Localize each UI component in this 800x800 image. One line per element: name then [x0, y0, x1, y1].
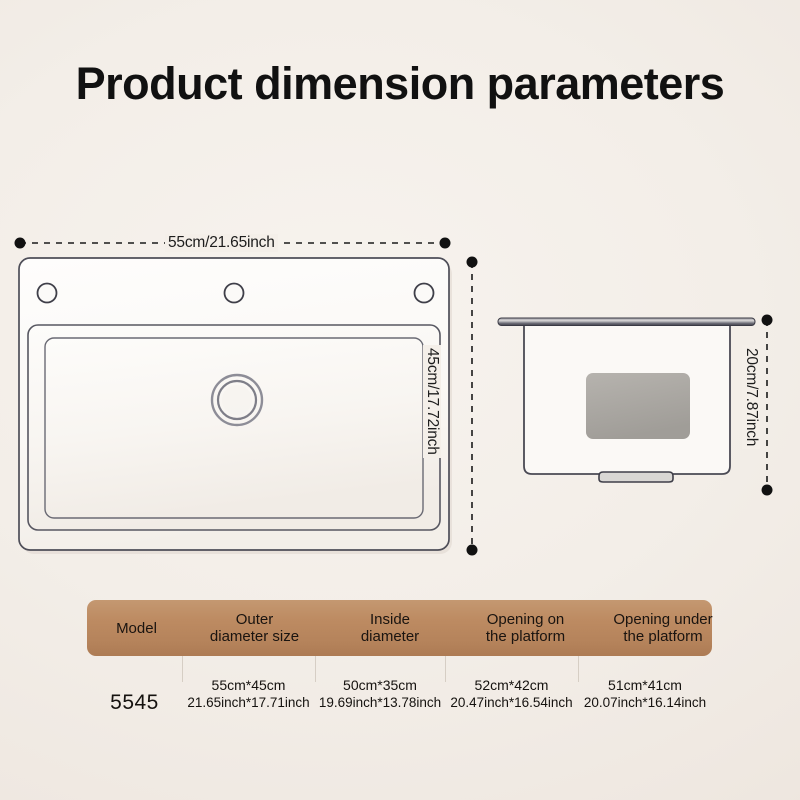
table-header-outer-line1: Outer: [236, 611, 274, 628]
cell-under-cm: 51cm*41cm: [578, 676, 712, 694]
sink-side-view: [498, 318, 755, 482]
cell-model-value: 5545: [87, 694, 182, 712]
width-dimension-label: 55cm/21.65inch: [165, 234, 278, 252]
table-header-under-line2: the platform: [623, 628, 702, 645]
drain-hole: [222, 385, 252, 415]
sink-top-view: [19, 258, 452, 554]
cell-inside-diameter: 50cm*35cm 19.69inch*13.78inch: [315, 676, 445, 720]
height-dim-dot-top: [762, 315, 773, 326]
depth-dim-dot-bottom: [467, 545, 478, 556]
table-header-opening-on: Opening on the platform: [457, 611, 594, 645]
side-view-rim: [498, 318, 755, 326]
table-header-inside: Inside diameter: [323, 611, 457, 645]
cell-outer-cm: 55cm*45cm: [182, 676, 315, 694]
width-dim-dot-left: [15, 238, 26, 249]
cell-outer-inch: 21.65inch*17.71inch: [182, 694, 315, 712]
faucet-hole-center: [225, 284, 244, 303]
height-dimension-label: 20cm/7.87inch: [742, 345, 760, 449]
table-header-model: Model: [87, 620, 186, 637]
table-header-inside-line2: diameter: [361, 628, 419, 645]
product-dimension-page: Product dimension parameters: [0, 0, 800, 800]
cell-under-inch: 20.07inch*16.14inch: [578, 694, 712, 712]
cell-inside-cm: 50cm*35cm: [315, 676, 445, 694]
height-dim-dot-bottom: [762, 485, 773, 496]
table-header-outer: Outer diameter size: [186, 611, 323, 645]
cell-inside-inch: 19.69inch*13.78inch: [315, 694, 445, 712]
table-header-model-line1: Model: [116, 620, 157, 637]
faucet-hole-right: [415, 284, 434, 303]
table-header-inside-line1: Inside: [370, 611, 410, 628]
width-dim-dot-right: [440, 238, 451, 249]
dimension-table: Model Outer diameter size Inside diamete…: [87, 600, 712, 720]
height-dimension-line: [762, 315, 773, 496]
cell-model: 5545: [87, 694, 182, 720]
faucet-hole-left: [38, 284, 57, 303]
depth-dimension-line: [467, 257, 478, 556]
side-view-drain-outlet: [599, 472, 673, 482]
table-header-opening-under: Opening under the platform: [594, 611, 732, 645]
basin-inner-edge: [45, 338, 423, 518]
table-row: 5545 55cm*45cm 21.65inch*17.71inch 50cm*…: [87, 656, 712, 720]
depth-dim-dot-top: [467, 257, 478, 268]
side-view-drain-panel: [586, 373, 690, 439]
table-header-outer-line2: diameter size: [210, 628, 299, 645]
table-header-under-line1: Opening under: [613, 611, 712, 628]
cell-on-inch: 20.47inch*16.54inch: [445, 694, 578, 712]
table-header-row: Model Outer diameter size Inside diamete…: [87, 600, 712, 656]
table-header-on-line2: the platform: [486, 628, 565, 645]
cell-opening-under-platform: 51cm*41cm 20.07inch*16.14inch: [578, 676, 712, 720]
table-header-on-line1: Opening on: [487, 611, 565, 628]
cell-outer-diameter: 55cm*45cm 21.65inch*17.71inch: [182, 676, 315, 720]
cell-opening-on-platform: 52cm*42cm 20.47inch*16.54inch: [445, 676, 578, 720]
depth-dimension-label: 45cm/17.72inch: [423, 345, 441, 458]
cell-on-cm: 52cm*42cm: [445, 676, 578, 694]
